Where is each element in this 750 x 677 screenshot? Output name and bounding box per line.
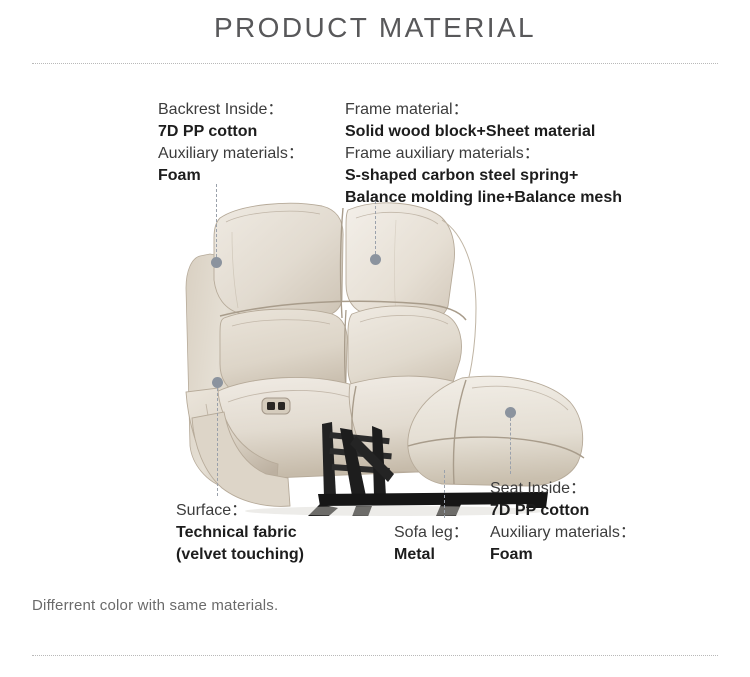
anchor-dot-seat (505, 407, 516, 418)
callout-line: Surface： (176, 502, 247, 519)
callout-line: Seat Inside： (490, 480, 586, 497)
callout-line: (velvet touching) (176, 546, 304, 563)
callout-backrest-inside: Backrest Inside： 7D PP cotton Auxiliary … (158, 99, 304, 187)
leader-line-backrest (216, 184, 217, 262)
anchor-dot-surface (212, 377, 223, 388)
callout-line: Foam (158, 167, 201, 184)
callout-line: Backrest Inside： (158, 101, 283, 118)
callout-surface: Surface： Technical fabric (velvet touchi… (176, 500, 304, 566)
callout-line: Frame material： (345, 101, 469, 118)
leader-line-surface (217, 388, 218, 496)
callout-line: Auxiliary materials： (490, 524, 636, 541)
callout-line: Sofa leg： (394, 524, 469, 541)
callout-line: Balance molding line+Balance mesh (345, 189, 622, 206)
footer-divider (32, 655, 718, 656)
callout-line: 7D PP cotton (490, 502, 589, 519)
recliner-sofa-illustration (180, 196, 590, 516)
anchor-dot-frame (370, 254, 381, 265)
callout-sofa-leg: Sofa leg： Metal (394, 522, 469, 566)
leader-line-sofa-leg (444, 470, 445, 518)
callout-seat-inside: Seat Inside： 7D PP cotton Auxiliary mate… (490, 478, 636, 566)
callout-line: S-shaped carbon steel spring+ (345, 167, 578, 184)
callout-line: Technical fabric (176, 524, 297, 541)
callout-frame-material: Frame material： Solid wood block+Sheet m… (345, 99, 622, 209)
callout-line: Metal (394, 546, 435, 563)
product-material-infographic: PRODUCT MATERIAL (0, 0, 750, 677)
recliner-control-panel (262, 398, 290, 414)
page-title: PRODUCT MATERIAL (0, 12, 750, 44)
callout-line: Auxiliary materials： (158, 145, 304, 162)
callout-line: Frame auxiliary materials： (345, 145, 540, 162)
header-divider (32, 63, 718, 64)
anchor-dot-backrest (211, 257, 222, 268)
callout-line: Solid wood block+Sheet material (345, 123, 595, 140)
callout-line: 7D PP cotton (158, 123, 257, 140)
leader-line-seat (510, 418, 511, 474)
footer-note: Differrent color with same materials. (32, 597, 278, 614)
callout-line: Foam (490, 546, 533, 563)
